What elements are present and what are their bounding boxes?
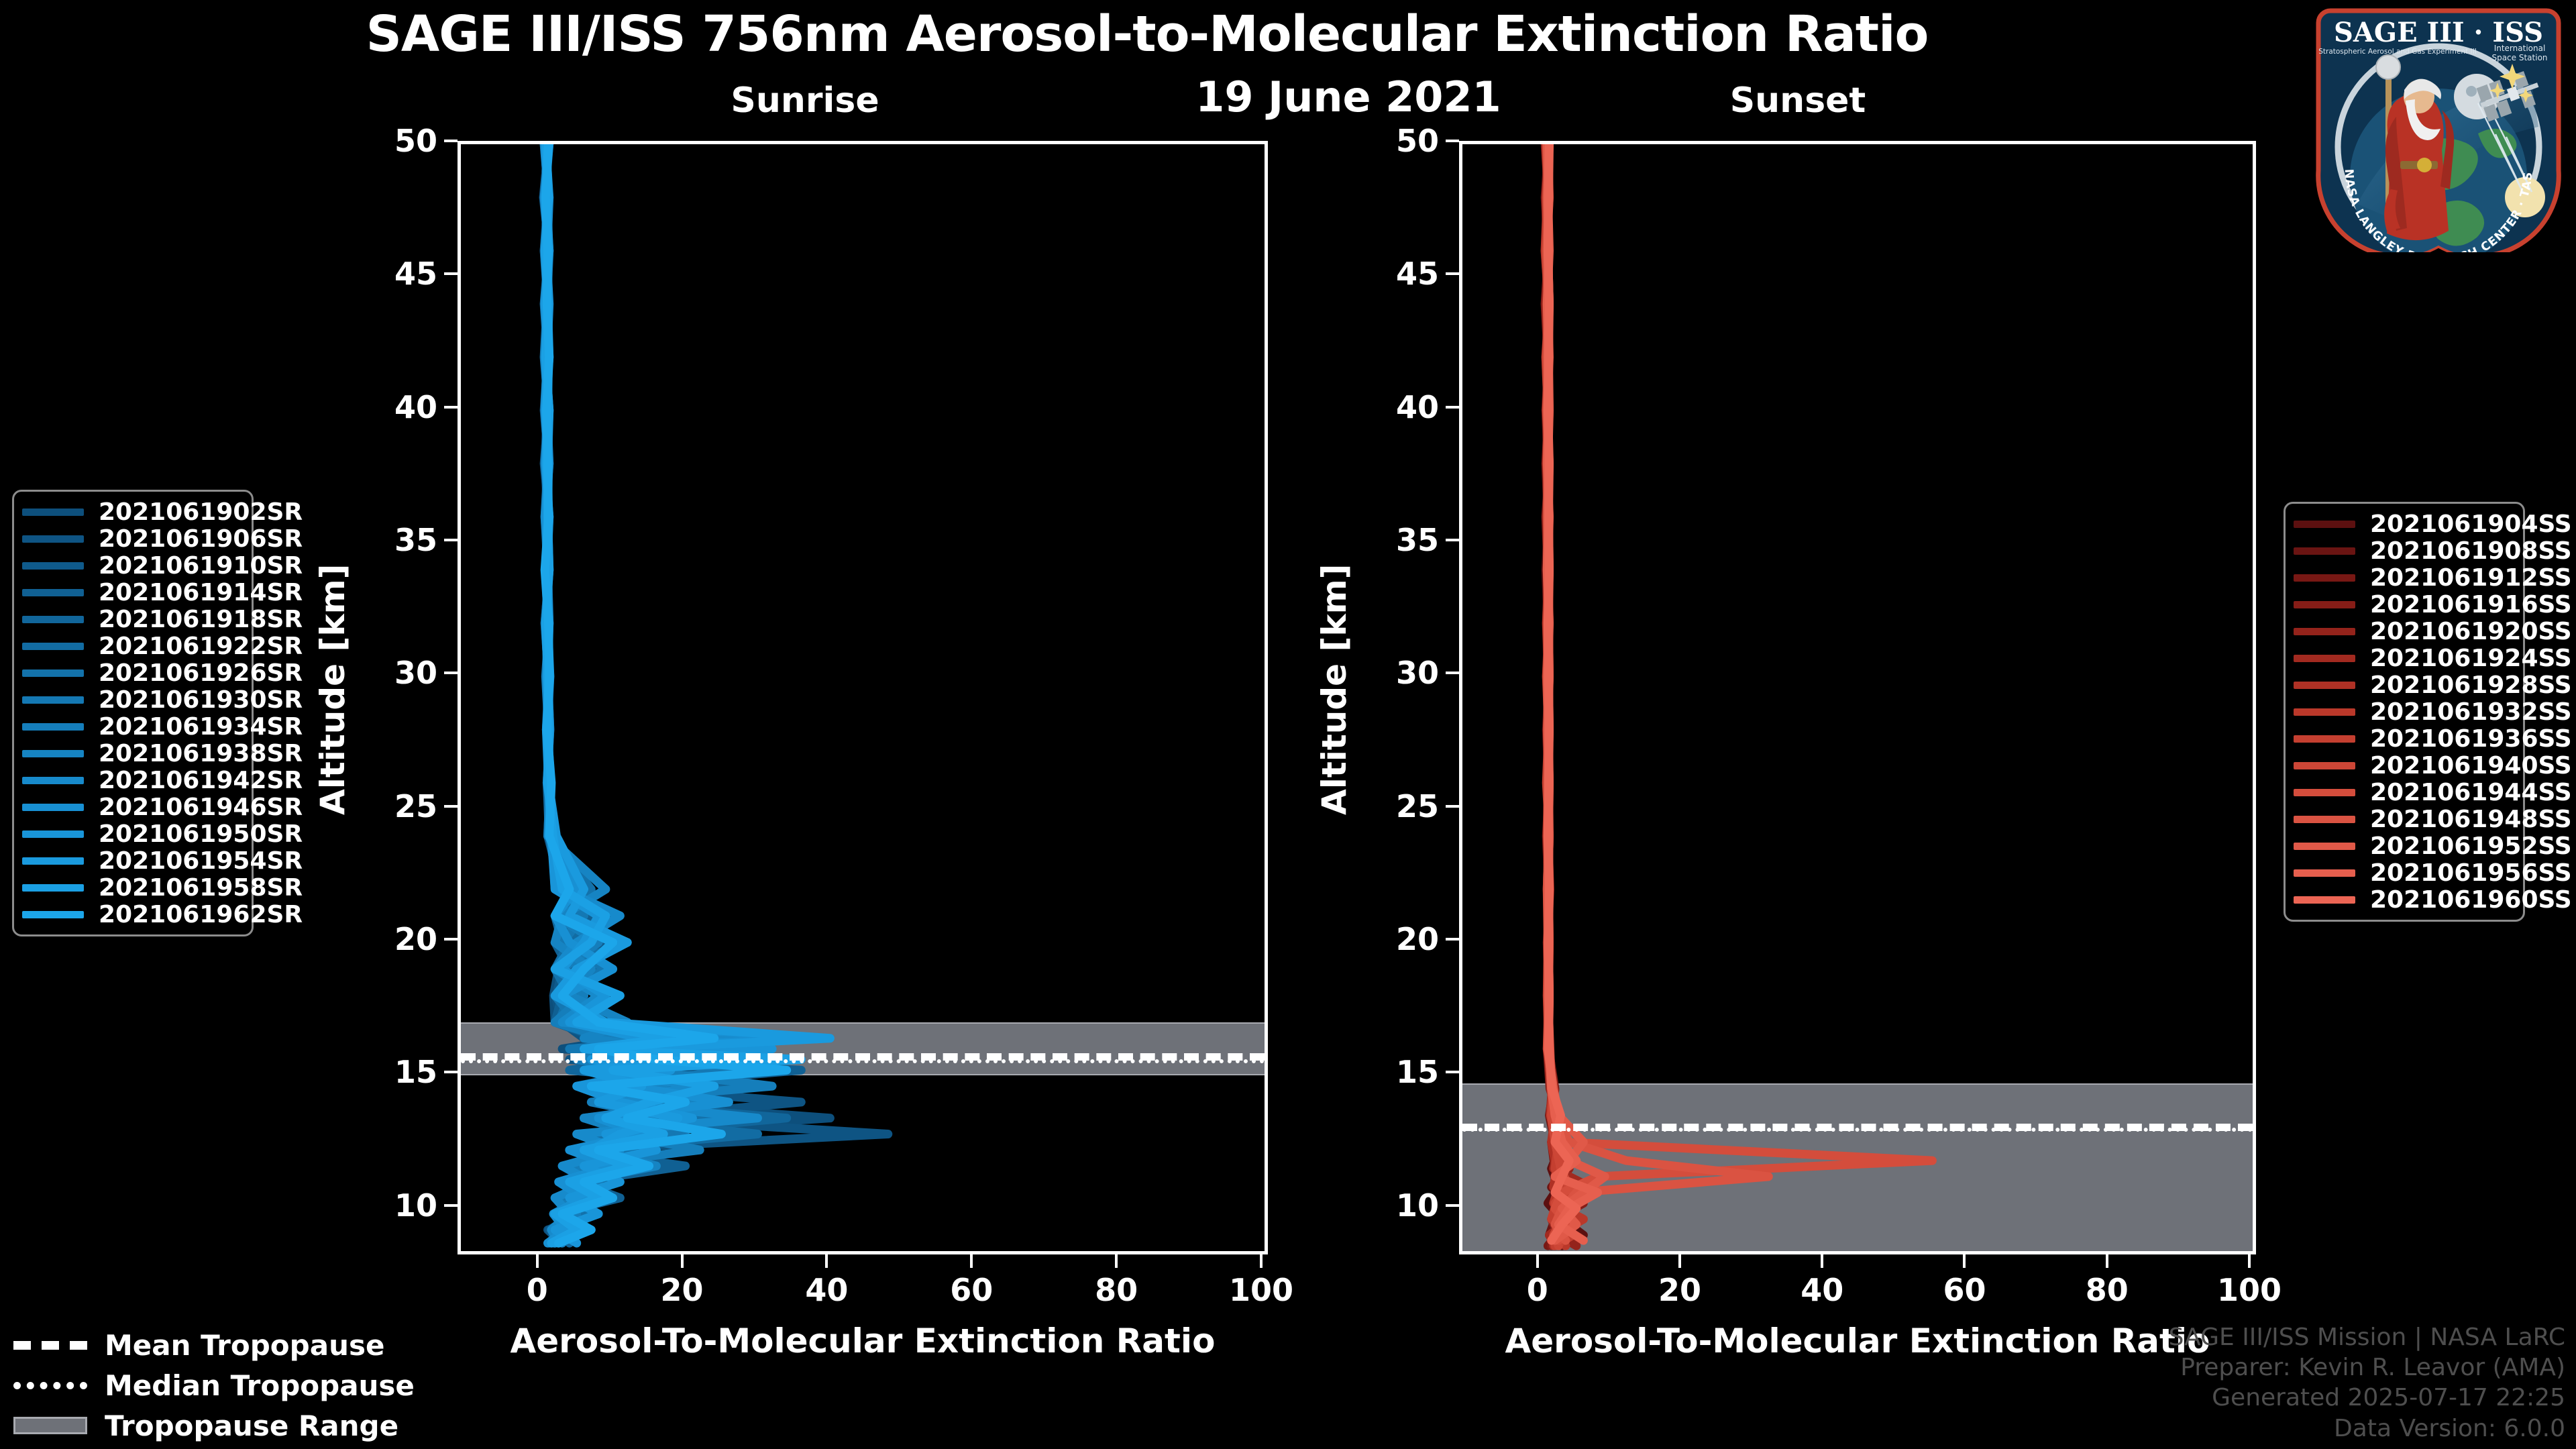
x-axis-label: 40	[1801, 1272, 1843, 1308]
legend-sunrise-item[interactable]: 2021061954SR	[22, 847, 239, 874]
y-axis-tick	[444, 539, 458, 541]
y-axis-tick	[444, 672, 458, 674]
y-axis-tick	[444, 1204, 458, 1207]
x-axis-label: 40	[805, 1272, 848, 1308]
sunrise-panel-title: Sunrise	[604, 80, 1006, 121]
x-axis-label: 100	[1229, 1272, 1293, 1308]
legend-sunrise-item[interactable]: 2021061918SR	[22, 606, 239, 633]
line-swatch-icon	[2294, 762, 2355, 769]
y-axis-tick	[444, 140, 458, 142]
line-swatch-icon	[22, 669, 84, 677]
legend-label-mean-tropopause: Mean Tropopause	[105, 1329, 384, 1362]
legend-sunrise-item[interactable]: 2021061958SR	[22, 874, 239, 901]
x-axis-tick	[1963, 1254, 1966, 1268]
y-axis-tick	[444, 805, 458, 808]
sunset-plot-panel	[1459, 141, 2256, 1254]
line-swatch-icon	[22, 884, 84, 892]
legend-sunrise-label: 2021061914SR	[99, 579, 303, 606]
y-axis-tick	[1446, 539, 1459, 541]
legend-sunset-label: 2021061948SS	[2370, 806, 2572, 833]
x-axis-label: 0	[527, 1272, 548, 1308]
credit-line-preparer: Preparer: Kevin R. Leavor (AMA)	[2169, 1352, 2565, 1383]
line-swatch-icon	[2294, 521, 2355, 528]
line-swatch-icon	[22, 508, 84, 516]
legend-sunrise-item[interactable]: 2021061922SR	[22, 633, 239, 659]
legend-sunset-label: 2021061956SS	[2370, 859, 2572, 887]
y-axis-tick	[444, 1071, 458, 1073]
x-axis-label: 60	[950, 1272, 993, 1308]
date-subtitle: 19 June 2021	[1114, 72, 1583, 121]
legend-label-median-tropopause: Median Tropopause	[105, 1369, 415, 1402]
x-axis-label: 80	[2086, 1272, 2129, 1308]
legend-sunrise-label: 2021061902SR	[99, 498, 303, 526]
credit-line-generated: Generated 2025-07-17 22:25	[2169, 1383, 2565, 1413]
dashed-line-icon	[13, 1336, 87, 1354]
line-swatch-icon	[22, 696, 84, 704]
x-axis-label: 20	[1658, 1272, 1701, 1308]
x-axis-title: Aerosol-To-Molecular Extinction Ratio	[458, 1322, 1268, 1360]
y-axis-title: Altitude [km]	[313, 563, 352, 815]
y-axis-label: 35	[1352, 522, 1439, 558]
legend-sunrise-item[interactable]: 2021061914SR	[22, 579, 239, 606]
legend-sunset-label: 2021061928SS	[2370, 672, 2572, 699]
x-axis-tick	[1678, 1254, 1681, 1268]
legend-sunrise-label: 2021061958SR	[99, 874, 303, 902]
filled-band-icon	[13, 1417, 87, 1434]
legend-sunset[interactable]: 2021061904SS2021061908SS2021061912SS2021…	[2284, 502, 2525, 922]
legend-sunset-item[interactable]: 2021061952SS	[2294, 833, 2511, 859]
legend-sunset-item[interactable]: 2021061932SS	[2294, 698, 2511, 725]
x-axis-tick	[1260, 1254, 1263, 1268]
legend-sunrise-label: 2021061910SR	[99, 552, 303, 580]
y-axis-label: 40	[350, 389, 437, 425]
line-swatch-icon	[2294, 655, 2355, 662]
x-axis-tick	[536, 1254, 539, 1268]
line-swatch-icon	[22, 616, 84, 623]
line-swatch-icon	[2294, 547, 2355, 555]
legend-label-tropopause-range: Tropopause Range	[105, 1409, 398, 1442]
y-axis-label: 40	[1352, 389, 1439, 425]
legend-sunset-item[interactable]: 2021061920SS	[2294, 618, 2511, 645]
y-axis-tick	[1446, 272, 1459, 275]
legend-sunrise-label: 2021061950SR	[99, 820, 303, 848]
line-swatch-icon	[22, 723, 84, 731]
x-axis-tick	[970, 1254, 973, 1268]
legend-sunrise-label: 2021061954SR	[99, 847, 303, 875]
line-swatch-icon	[22, 857, 84, 865]
line-swatch-icon	[22, 750, 84, 757]
legend-sunrise-label: 2021061906SR	[99, 525, 303, 553]
legend-sunrise[interactable]: 2021061902SR2021061906SR2021061910SR2021…	[12, 490, 254, 936]
y-axis-label: 10	[350, 1187, 437, 1224]
legend-sunset-label: 2021061960SS	[2370, 886, 2572, 914]
legend-sunset-item[interactable]: 2021061944SS	[2294, 779, 2511, 806]
legend-sunrise-label: 2021061930SR	[99, 686, 303, 714]
y-axis-label: 30	[350, 655, 437, 691]
legend-sunset-label: 2021061932SS	[2370, 698, 2572, 726]
y-axis-tick	[1446, 406, 1459, 409]
y-axis-tick	[1446, 140, 1459, 142]
x-axis-tick	[2106, 1254, 2108, 1268]
y-axis-label: 15	[1352, 1054, 1439, 1090]
line-swatch-icon	[22, 830, 84, 838]
legend-sunset-label: 2021061936SS	[2370, 725, 2572, 753]
legend-sunrise-label: 2021061934SR	[99, 713, 303, 741]
legend-sunset-label: 2021061944SS	[2370, 779, 2572, 806]
x-axis-title: Aerosol-To-Molecular Extinction Ratio	[1459, 1322, 2256, 1360]
profile-line	[1547, 144, 1768, 1240]
median-tropopause-line-sunset	[1462, 1128, 2253, 1132]
legend-sunrise-label: 2021061942SR	[99, 767, 303, 794]
y-axis-label: 50	[1352, 123, 1439, 159]
y-axis-tick	[1446, 672, 1459, 674]
credits-block: SAGE III/ISS Mission | NASA LaRC Prepare…	[2169, 1322, 2565, 1444]
x-axis-tick	[825, 1254, 828, 1268]
legend-sunrise-item[interactable]: 2021061906SR	[22, 525, 239, 552]
x-axis-label: 80	[1095, 1272, 1138, 1308]
legend-sunrise-item[interactable]: 2021061934SR	[22, 713, 239, 740]
y-axis-label: 20	[1352, 921, 1439, 957]
legend-sunrise-item[interactable]: 2021061902SR	[22, 498, 239, 525]
profile-line	[1547, 144, 1605, 1240]
line-swatch-icon	[2294, 601, 2355, 608]
line-swatch-icon	[2294, 869, 2355, 877]
legend-sunset-label: 2021061940SS	[2370, 752, 2572, 780]
legend-sunrise-item[interactable]: 2021061910SR	[22, 552, 239, 579]
sunset-plot-area	[1462, 144, 2253, 1251]
legend-sunrise-item[interactable]: 2021061930SR	[22, 686, 239, 713]
x-axis-tick	[1536, 1254, 1539, 1268]
legend-sunset-item[interactable]: 2021061924SS	[2294, 645, 2511, 672]
y-axis-label: 30	[1352, 655, 1439, 691]
y-axis-label: 10	[1352, 1187, 1439, 1224]
legend-sunset-item[interactable]: 2021061928SS	[2294, 672, 2511, 698]
legend-sunset-item[interactable]: 2021061908SS	[2294, 537, 2511, 564]
legend-sunrise-item[interactable]: 2021061946SR	[22, 794, 239, 820]
x-axis-label: 20	[661, 1272, 704, 1308]
y-axis-label: 25	[350, 788, 437, 824]
x-axis-label: 60	[1943, 1272, 1986, 1308]
legend-sunrise-item[interactable]: 2021061962SR	[22, 901, 239, 928]
y-axis-label: 45	[350, 256, 437, 292]
y-axis-tick	[1446, 805, 1459, 808]
line-swatch-icon	[2294, 789, 2355, 796]
legend-sunset-item[interactable]: 2021061912SS	[2294, 564, 2511, 591]
page-title: SAGE III/ISS 756nm Aerosol-to-Molecular …	[0, 5, 2294, 63]
legend-item-median-tropopause: Median Tropopause	[13, 1365, 389, 1405]
line-swatch-icon	[2294, 682, 2355, 689]
y-axis-tick	[444, 272, 458, 275]
sunrise-plot-panel	[458, 141, 1268, 1254]
line-swatch-icon	[2294, 896, 2355, 904]
x-axis-label: 0	[1527, 1272, 1548, 1308]
line-swatch-icon	[2294, 735, 2355, 743]
sunset-profile-curves	[1462, 144, 2253, 1251]
y-axis-label: 45	[1352, 256, 1439, 292]
y-axis-title: Altitude [km]	[1315, 563, 1354, 815]
legend-sunrise-label: 2021061922SR	[99, 633, 303, 660]
legend-sunrise-label: 2021061918SR	[99, 606, 303, 633]
line-swatch-icon	[22, 777, 84, 784]
legend-sunrise-label: 2021061926SR	[99, 659, 303, 687]
line-swatch-icon	[22, 804, 84, 811]
legend-sunrise-label: 2021061938SR	[99, 740, 303, 767]
legend-sunrise-label: 2021061962SR	[99, 901, 303, 928]
logo-subtitle-right-2: Space Station	[2491, 53, 2547, 62]
logo-subtitle-right-1: International	[2494, 44, 2546, 53]
logo-subtitle-left: Stratospheric Aerosol and Gas Experiment…	[2318, 48, 2477, 56]
legend-sunset-label: 2021061920SS	[2370, 618, 2572, 645]
line-swatch-icon	[22, 911, 84, 918]
median-tropopause-line-sunrise	[461, 1059, 1265, 1063]
profile-line	[1546, 144, 1932, 1240]
y-axis-tick	[1446, 1071, 1459, 1073]
y-axis-tick	[444, 938, 458, 941]
x-axis-tick	[681, 1254, 684, 1268]
sage-iii-iss-mission-patch-logo: SAGE III · ISS Stratospheric Aerosol and…	[2310, 3, 2567, 252]
legend-sunrise-item[interactable]: 2021061938SR	[22, 740, 239, 767]
dotted-line-icon	[13, 1377, 87, 1394]
line-swatch-icon	[22, 643, 84, 650]
x-axis-tick	[2248, 1254, 2251, 1268]
legend-sunrise-label: 2021061946SR	[99, 794, 303, 821]
legend-sunset-item[interactable]: 2021061960SS	[2294, 886, 2511, 913]
sunrise-plot-area	[461, 144, 1265, 1251]
y-axis-tick	[1446, 1204, 1459, 1207]
line-swatch-icon	[22, 535, 84, 543]
legend-item-mean-tropopause: Mean Tropopause	[13, 1325, 389, 1365]
line-swatch-icon	[2294, 574, 2355, 582]
credit-line-version: Data Version: 6.0.0	[2169, 1413, 2565, 1444]
legend-sunset-item[interactable]: 2021061916SS	[2294, 591, 2511, 618]
legend-sunrise-item[interactable]: 2021061950SR	[22, 820, 239, 847]
legend-tropopause: Mean Tropopause Median Tropopause Tropop…	[13, 1325, 389, 1446]
y-axis-label: 25	[1352, 788, 1439, 824]
x-axis-tick	[1115, 1254, 1118, 1268]
legend-sunset-item[interactable]: 2021061948SS	[2294, 806, 2511, 833]
line-swatch-icon	[2294, 628, 2355, 635]
legend-sunset-item[interactable]: 2021061904SS	[2294, 511, 2511, 537]
legend-sunset-label: 2021061916SS	[2370, 591, 2572, 619]
line-swatch-icon	[22, 562, 84, 570]
legend-item-tropopause-range: Tropopause Range	[13, 1405, 389, 1446]
line-swatch-icon	[2294, 816, 2355, 823]
x-axis-tick	[1821, 1254, 1823, 1268]
legend-sunset-item[interactable]: 2021061940SS	[2294, 752, 2511, 779]
y-axis-label: 35	[350, 522, 437, 558]
legend-sunset-label: 2021061904SS	[2370, 511, 2572, 538]
y-axis-label: 50	[350, 123, 437, 159]
y-axis-tick	[1446, 938, 1459, 941]
sunrise-profile-curves	[461, 144, 1265, 1251]
legend-sunset-item[interactable]: 2021061936SS	[2294, 725, 2511, 752]
legend-sunrise-item[interactable]: 2021061926SR	[22, 659, 239, 686]
x-axis-label: 100	[2217, 1272, 2282, 1308]
sunset-panel-title: Sunset	[1597, 80, 1999, 121]
line-swatch-icon	[2294, 708, 2355, 716]
legend-sunset-label: 2021061908SS	[2370, 537, 2572, 565]
profile-line	[1548, 144, 1576, 1240]
legend-sunset-label: 2021061912SS	[2370, 564, 2572, 592]
legend-sunset-label: 2021061924SS	[2370, 645, 2572, 672]
y-axis-tick	[444, 406, 458, 409]
y-axis-label: 20	[350, 921, 437, 957]
legend-sunrise-item[interactable]: 2021061942SR	[22, 767, 239, 794]
legend-sunset-item[interactable]: 2021061956SS	[2294, 859, 2511, 886]
line-swatch-icon	[22, 589, 84, 596]
credit-line-mission: SAGE III/ISS Mission | NASA LaRC	[2169, 1322, 2565, 1352]
legend-sunset-label: 2021061952SS	[2370, 833, 2572, 860]
y-axis-label: 15	[350, 1054, 437, 1090]
line-swatch-icon	[2294, 843, 2355, 850]
